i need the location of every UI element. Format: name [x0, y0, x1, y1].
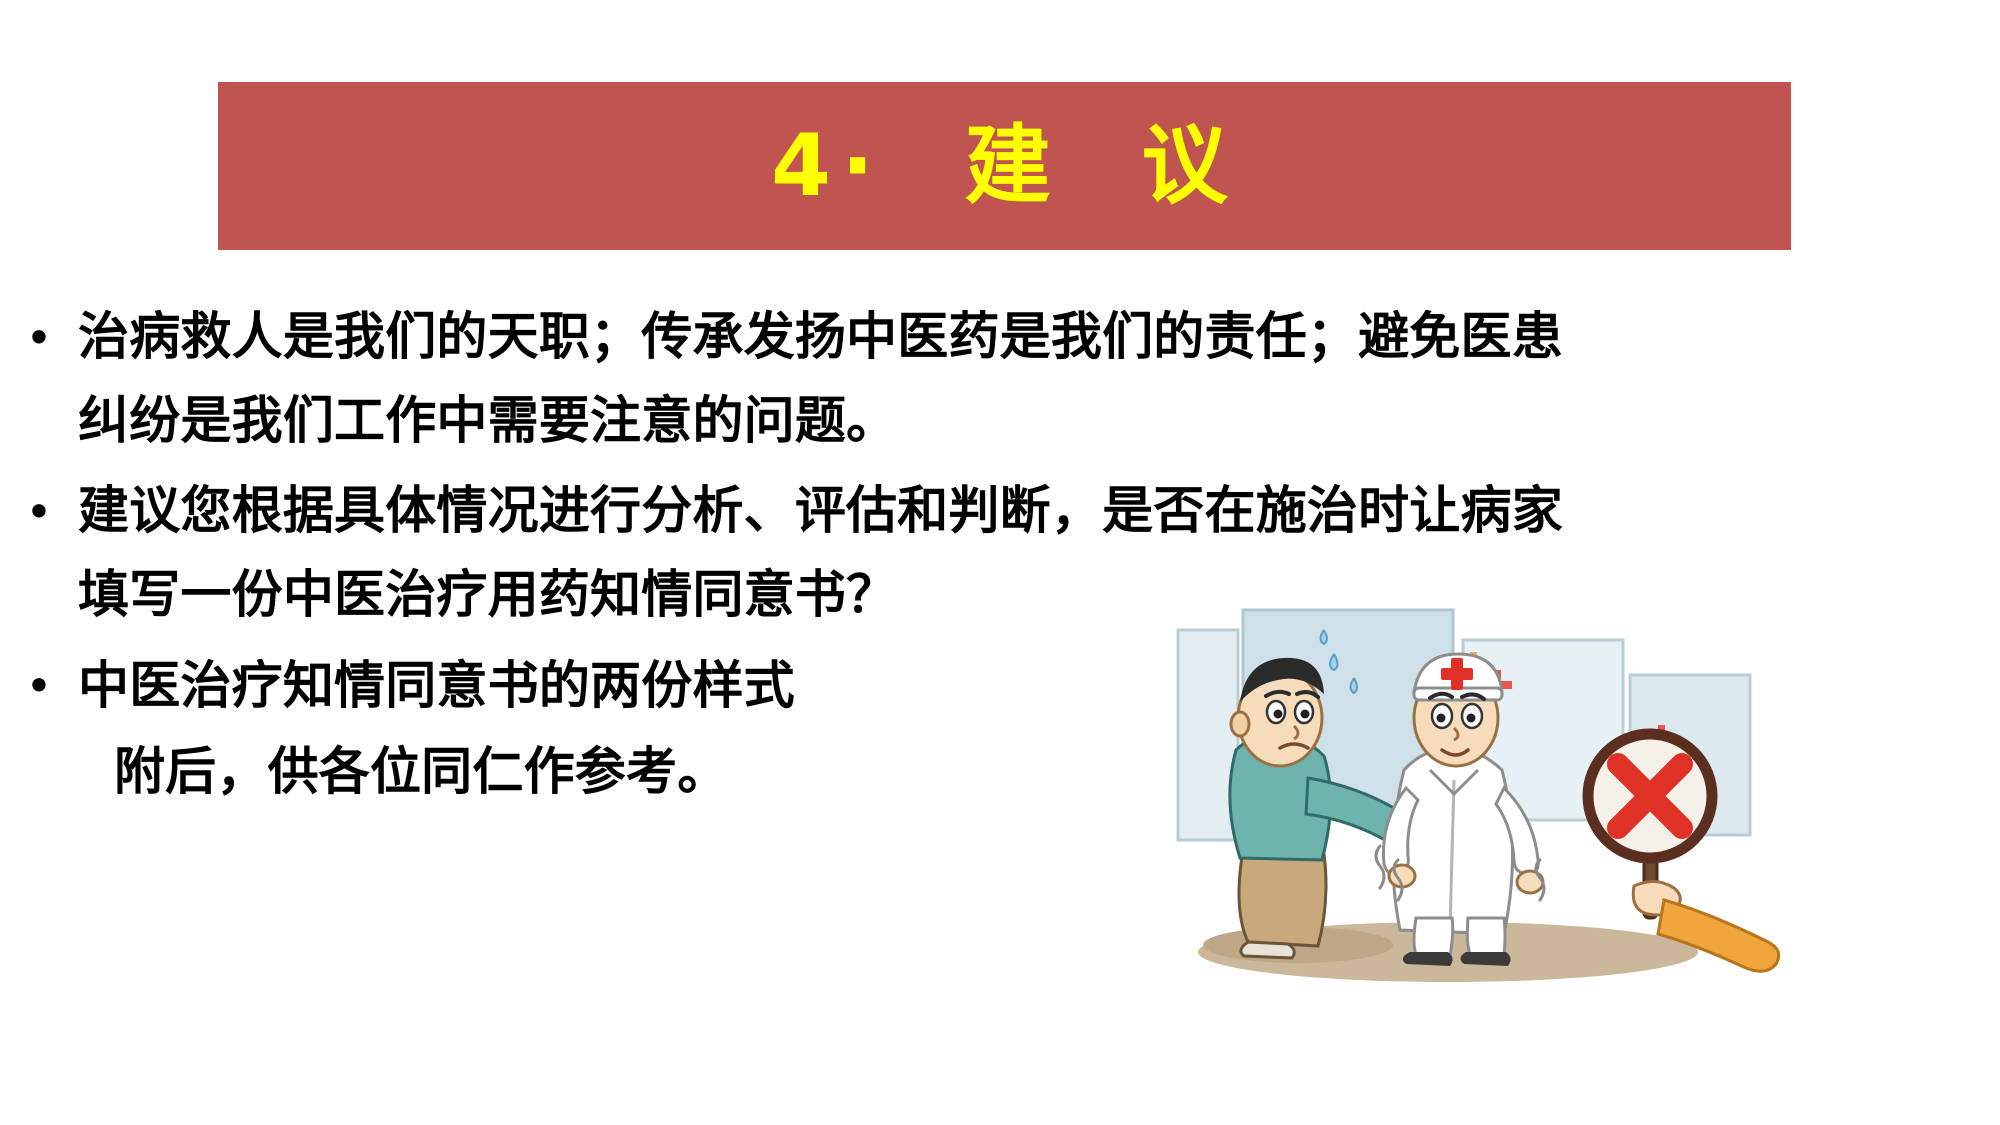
page-title: 4· 建 议 [771, 123, 1238, 209]
doctor-patient-cartoon-illustration [1148, 600, 1808, 1000]
bullet-line: 建议您根据具体情况进行分析、评估和判断，是否在施治时让病家 [78, 470, 1890, 554]
bullet-text-block: 治病救人是我们的天职；传承发扬中医药是我们的责任；避免医患 纠纷是我们工作中需要… [78, 296, 1890, 464]
bullet-marker-icon: • [0, 470, 78, 554]
bullet-marker-icon: • [0, 644, 78, 728]
cartoon-svg [1148, 600, 1808, 1000]
list-item: • 治病救人是我们的天职；传承发扬中医药是我们的责任；避免医患 纠纷是我们工作中… [0, 296, 1890, 464]
bullet-line: 治病救人是我们的天职；传承发扬中医药是我们的责任；避免医患 [78, 296, 1890, 380]
title-banner: 4· 建 议 [218, 82, 1791, 250]
bullet-line: 纠纷是我们工作中需要注意的问题。 [78, 380, 1890, 464]
bullet-marker-icon: • [0, 296, 78, 380]
slide-root: 4· 建 议 • 治病救人是我们的天职；传承发扬中医药是我们的责任；避免医患 纠… [0, 0, 2000, 1125]
